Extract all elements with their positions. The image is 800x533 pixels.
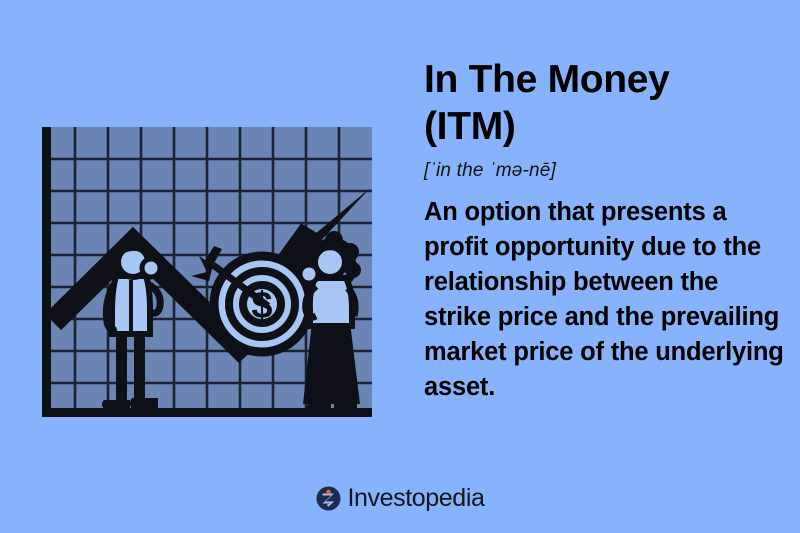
brand-name: Investopedia <box>348 486 485 511</box>
pronunciation-guide: [ˈin the ˈmə-nē] <box>424 159 784 183</box>
term-text-column: In The Money (ITM) [ˈin the ˈmə-nē] An o… <box>424 56 784 405</box>
y-axis <box>42 127 51 417</box>
target-dollar-symbol: $ <box>251 285 272 327</box>
page-title: In The Money (ITM) <box>424 56 784 150</box>
definition-text: An option that presents a profit opportu… <box>424 195 784 405</box>
footer-brand: Investopedia <box>0 486 800 511</box>
illustration: $ <box>0 0 400 480</box>
investopedia-logo-icon <box>316 486 341 511</box>
infographic-card: $ <box>0 0 800 533</box>
